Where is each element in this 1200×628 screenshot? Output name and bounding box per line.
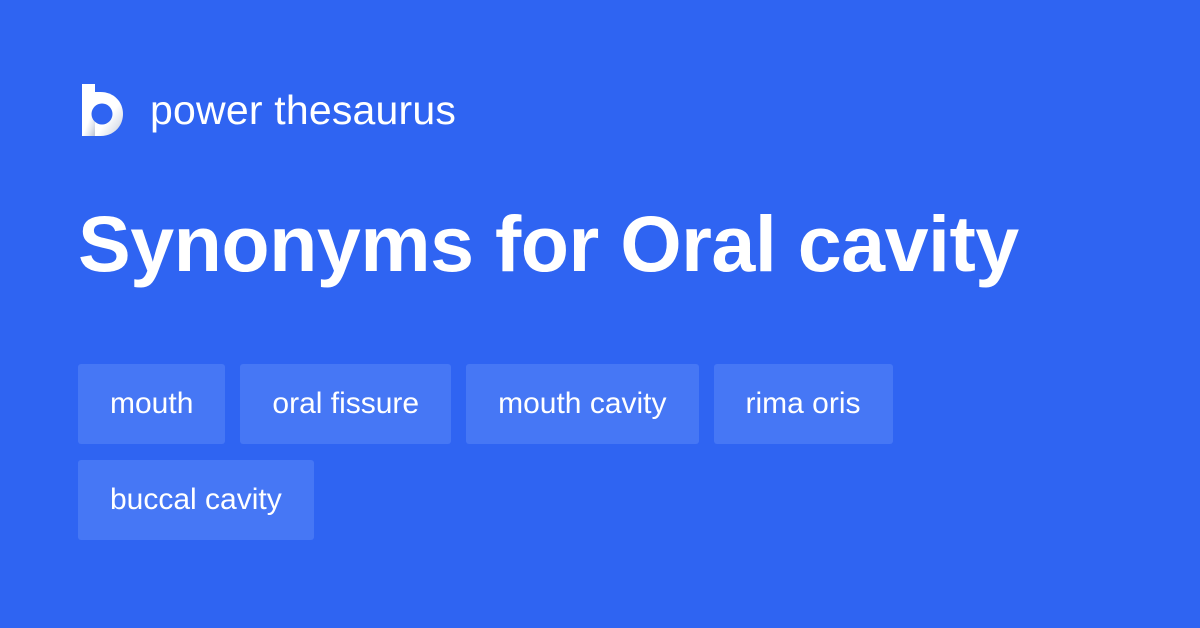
brand-name: power thesaurus (150, 90, 456, 131)
synonym-tag[interactable]: buccal cavity (78, 460, 314, 540)
synonym-tag-list: mouth oral fissure mouth cavity rima ori… (78, 364, 1088, 540)
synonym-tag[interactable]: rima oris (714, 364, 893, 444)
power-thesaurus-b-logo-icon (78, 84, 126, 136)
page-title: Synonyms for Oral cavity (78, 196, 1019, 292)
synonym-tag[interactable]: mouth cavity (466, 364, 698, 444)
synonym-tag[interactable]: oral fissure (240, 364, 451, 444)
synonyms-share-card: power thesaurus Synonyms for Oral cavity… (0, 0, 1200, 628)
brand-lockup[interactable]: power thesaurus (78, 82, 456, 138)
synonym-tag[interactable]: mouth (78, 364, 225, 444)
